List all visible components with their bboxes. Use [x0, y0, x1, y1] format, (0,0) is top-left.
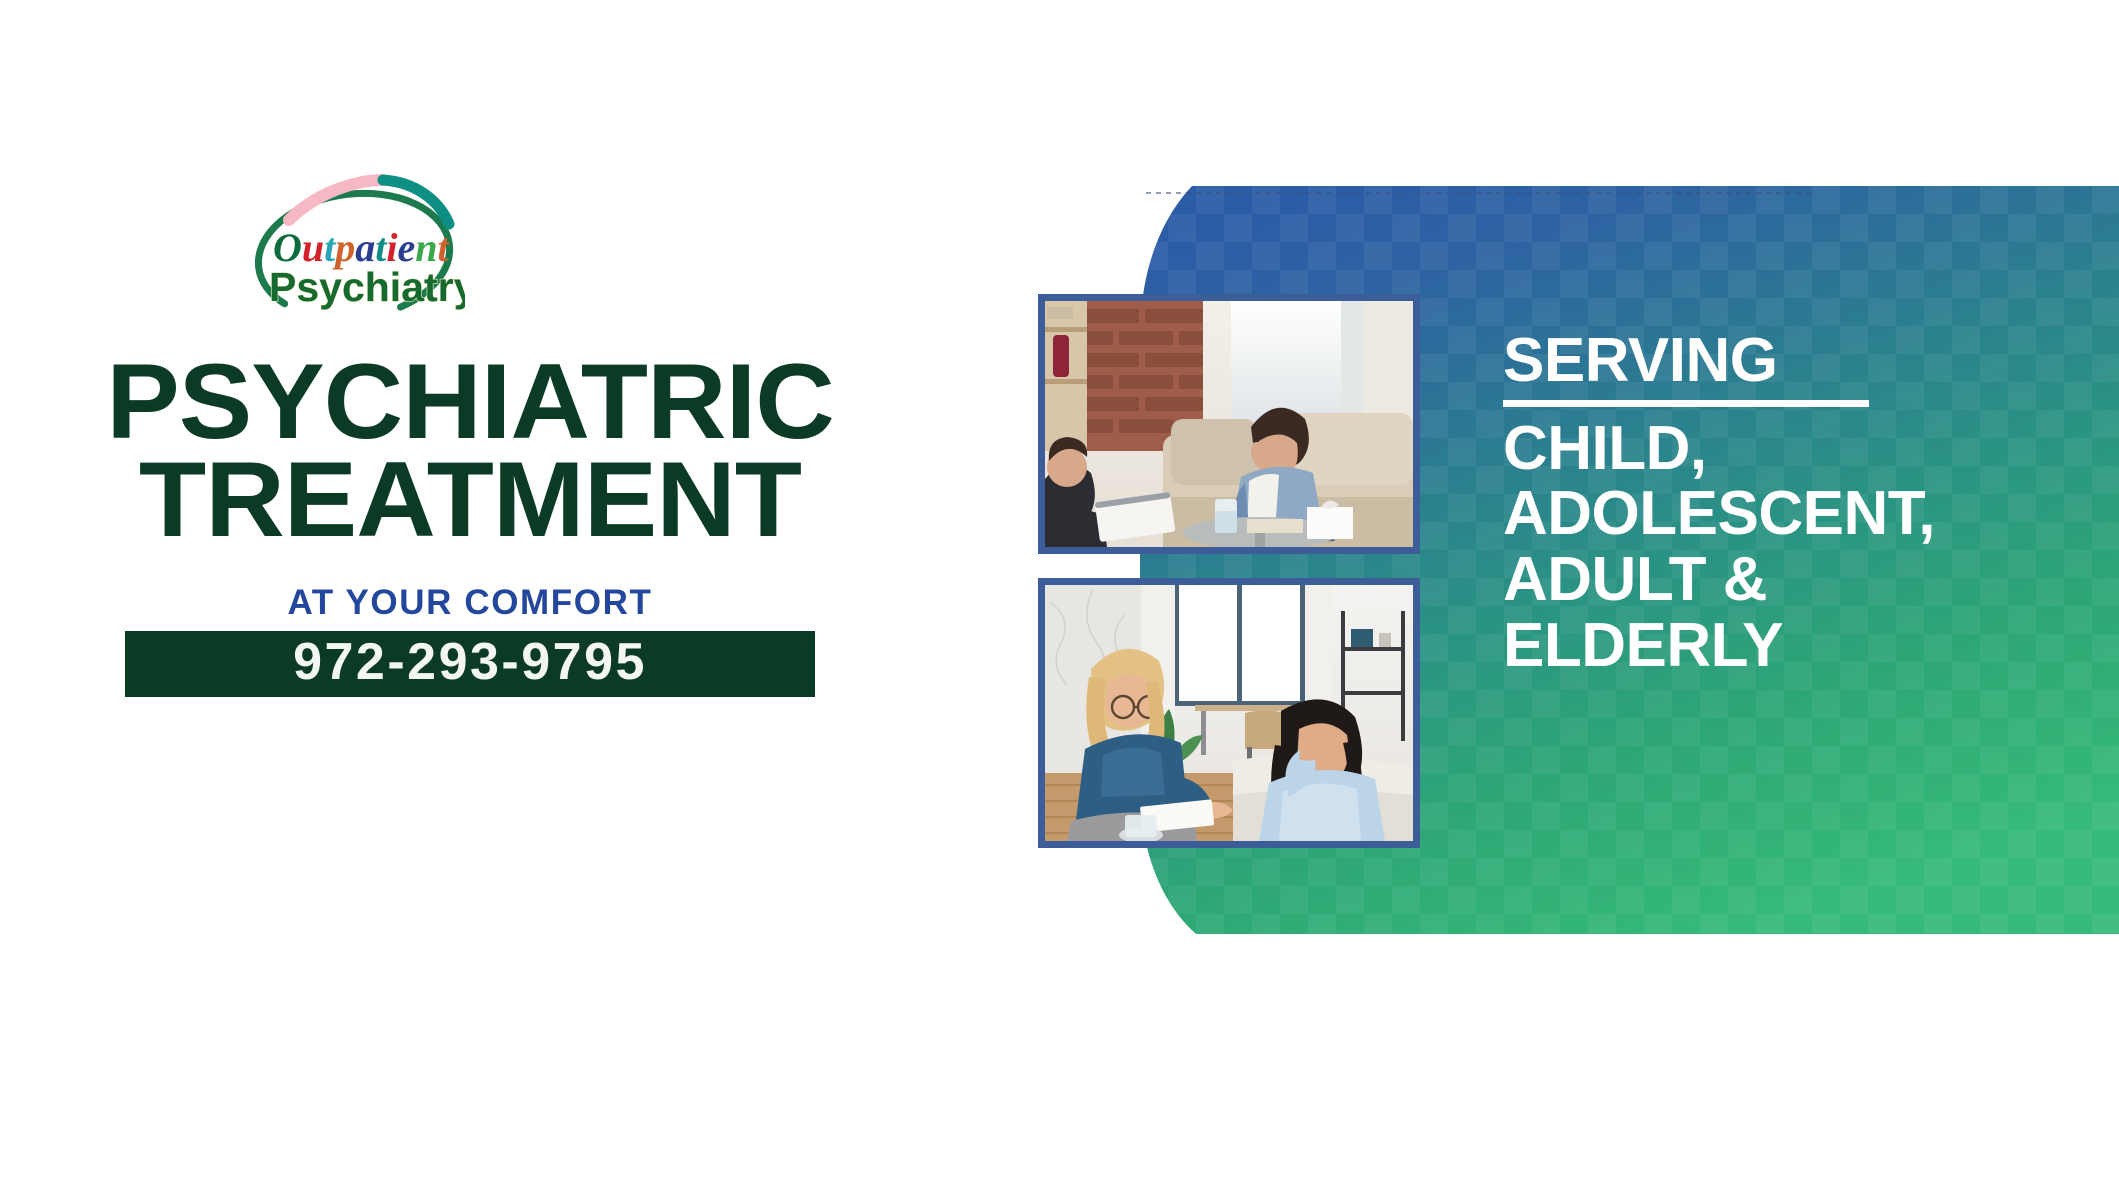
left-content-column: Outpatient Psychiatry PSYCHIATRIC TREATM… [0, 0, 960, 1192]
serving-line-adult: ADULT & [1503, 547, 2103, 613]
promo-banner: Outpatient Psychiatry PSYCHIATRIC TREATM… [0, 0, 2119, 1192]
outpatient-psychiatry-logo: Outpatient Psychiatry [243, 168, 465, 340]
svg-text:Psychiatry: Psychiatry [269, 264, 465, 310]
photo-counselor-with-female-patient [1038, 578, 1420, 848]
serving-word: SERVING [1503, 328, 2103, 394]
phone-number-bar[interactable]: 972-293-9795 [125, 631, 815, 697]
headline-line-1: PSYCHIATRIC [0, 352, 954, 450]
photo-top-artwork [1045, 301, 1413, 547]
subheadline: AT YOUR COMFORT [0, 583, 940, 623]
phone-number[interactable]: 972-293-9795 [293, 632, 647, 692]
serving-headline: SERVING CHILD, ADOLESCENT, ADULT & ELDER… [1503, 328, 2103, 679]
logo-artwork: Outpatient Psychiatry [243, 168, 465, 340]
photo-bottom-artwork [1045, 585, 1413, 841]
panel-top-dashed-rule [1146, 192, 1816, 194]
page-title: PSYCHIATRIC TREATMENT [0, 352, 940, 549]
photo-therapist-with-male-patient [1038, 294, 1420, 554]
serving-line-adolescent: ADOLESCENT, [1503, 481, 2103, 547]
serving-underline [1503, 400, 1869, 407]
serving-line-child: CHILD, [1503, 416, 2103, 482]
serving-line-elderly: ELDERLY [1503, 613, 2103, 679]
headline-line-2: TREATMENT [0, 450, 954, 548]
